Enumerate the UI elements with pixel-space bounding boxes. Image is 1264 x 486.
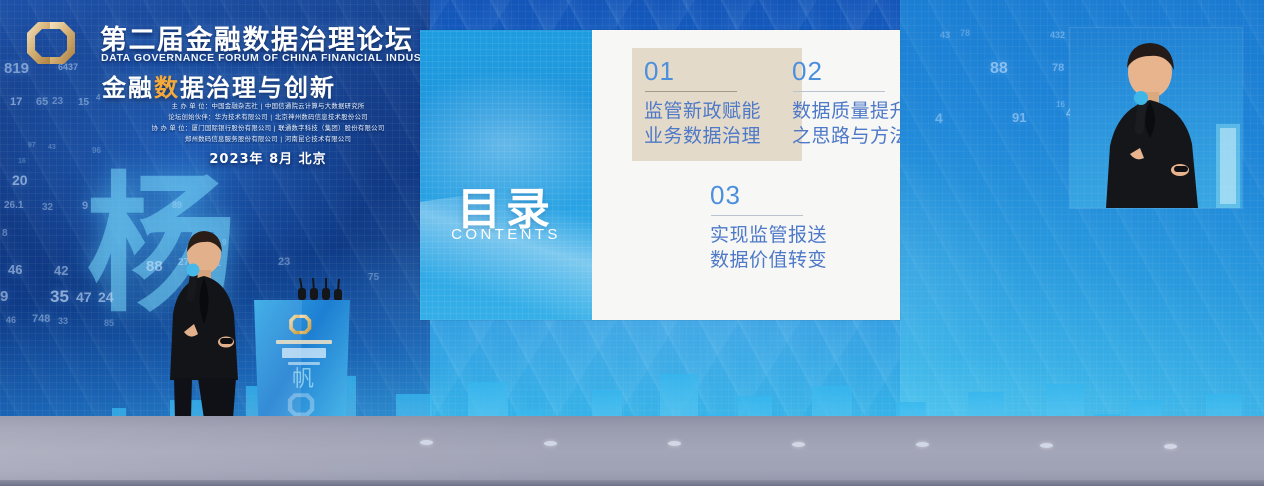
toc-item-02-line1: 数据质量提升	[792, 99, 900, 124]
toc-item-02-line2: 之思路与方法	[792, 124, 900, 149]
stage-floor	[0, 416, 1264, 486]
toc-item-01-line2: 业务数据治理	[644, 124, 790, 149]
forum-subtitle-cn: 金融数据治理与创新	[102, 68, 336, 103]
event-stage-photo: 杨 帆 81964371765231542026.132984642889354…	[0, 0, 1264, 486]
toc-item-01[interactable]: 01 监管新政赋能 业务数据治理	[632, 48, 802, 161]
toc-item-03[interactable]: 03 实现监管报送 数据价值转变	[710, 182, 860, 273]
toc-item-03-line2: 数据价值转变	[710, 248, 860, 273]
floor-light	[544, 441, 557, 446]
toc-item-02-rule	[793, 91, 885, 92]
event-date-location: 2023年 8月 北京	[118, 148, 418, 167]
stage-front-edge	[0, 480, 1264, 486]
svg-text:帆: 帆	[292, 367, 314, 392]
organizer-line-2: 论坛创始伙伴：华为技术有限公司 | 北京神州数码信息技术股份公司	[118, 112, 418, 123]
forum-title-en: DATA GOVERNANCE FORUM OF CHINA FINANCIAL…	[101, 52, 444, 64]
floor-light	[420, 440, 433, 445]
toc-item-01-line1: 监管新政赋能	[644, 99, 790, 124]
pip-speaker-figure	[1070, 28, 1242, 208]
toc-item-02-number: 02	[792, 58, 900, 84]
toc-item-03-rule	[711, 215, 803, 216]
floor-light	[792, 442, 805, 447]
presentation-slide: 目录 CONTENTS 01 监管新政赋能 业务数据治理 02 数据质量提升 之…	[420, 30, 900, 320]
subtitle-suffix: 据治理与创新	[180, 74, 336, 102]
floor-light	[1040, 443, 1053, 448]
subtitle-prefix: 金融	[102, 74, 154, 102]
toc-item-01-number: 01	[644, 58, 790, 84]
slide-toc-items: 01 监管新政赋能 业务数据治理 02 数据质量提升 之思路与方法 03 实现监…	[592, 30, 900, 320]
interlocking-hexagon-logo-icon	[20, 16, 82, 70]
toc-item-03-line1: 实现监管报送	[710, 223, 860, 248]
floor-light	[1164, 444, 1177, 449]
subtitle-accent: 数	[154, 74, 180, 102]
toc-item-02[interactable]: 02 数据质量提升 之思路与方法	[792, 58, 900, 149]
organizer-line-3: 协 办 单 位：厦门国际银行股份有限公司 | 联通数字科技（集团）股份有限公司	[118, 123, 418, 134]
slide-toc-panel: 目录 CONTENTS	[420, 30, 592, 320]
floor-sheen	[0, 416, 1264, 486]
speaker-closeup-inset	[1070, 28, 1242, 208]
organizer-line-4: 郑州数码信息服务股份有限公司 | 河南昆仑技术有限公司	[118, 134, 418, 145]
organizer-line-1: 主 办 单 位：中国金融杂志社 | 中国信通院云计算与大数据研究所	[118, 101, 418, 112]
toc-heading-en: CONTENTS	[420, 226, 592, 243]
toc-item-03-number: 03	[710, 182, 860, 208]
organizer-credits: 主 办 单 位：中国金融杂志社 | 中国信通院云计算与大数据研究所论坛创始伙伴：…	[118, 101, 418, 145]
toc-item-01-rule	[645, 91, 737, 92]
